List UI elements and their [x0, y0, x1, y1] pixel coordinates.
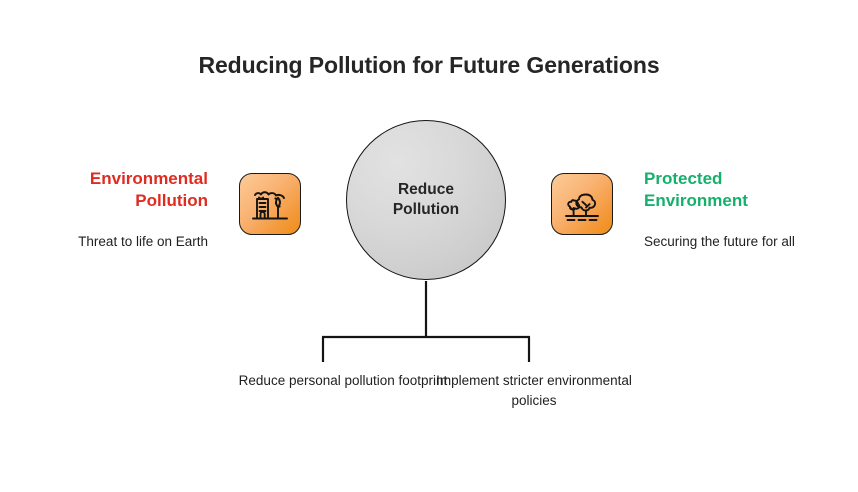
factory-pollution-glyph: [248, 182, 292, 226]
left-branch: Environmental Pollution Threat to life o…: [38, 168, 208, 252]
diagram-canvas: Reducing Pollution for Future Generation…: [0, 0, 858, 492]
left-branch-heading: Environmental Pollution: [38, 168, 208, 213]
central-concept-label: Reduce Pollution: [393, 180, 459, 221]
page-title: Reducing Pollution for Future Generation…: [0, 52, 858, 79]
action-reduce-footprint: Reduce personal pollution footprint: [238, 371, 448, 391]
trees-nature-glyph: [560, 182, 604, 226]
left-branch-subtext: Threat to life on Earth: [38, 233, 208, 252]
trees-nature-icon[interactable]: [551, 173, 613, 235]
right-branch: Protected Environment Securing the futur…: [644, 168, 814, 252]
factory-pollution-icon[interactable]: [239, 173, 301, 235]
right-branch-subtext: Securing the future for all: [644, 233, 802, 252]
central-concept[interactable]: Reduce Pollution: [346, 120, 506, 280]
right-branch-heading: Protected Environment: [644, 168, 814, 213]
action-stricter-policies: Implement stricter environmental policie…: [429, 371, 639, 410]
